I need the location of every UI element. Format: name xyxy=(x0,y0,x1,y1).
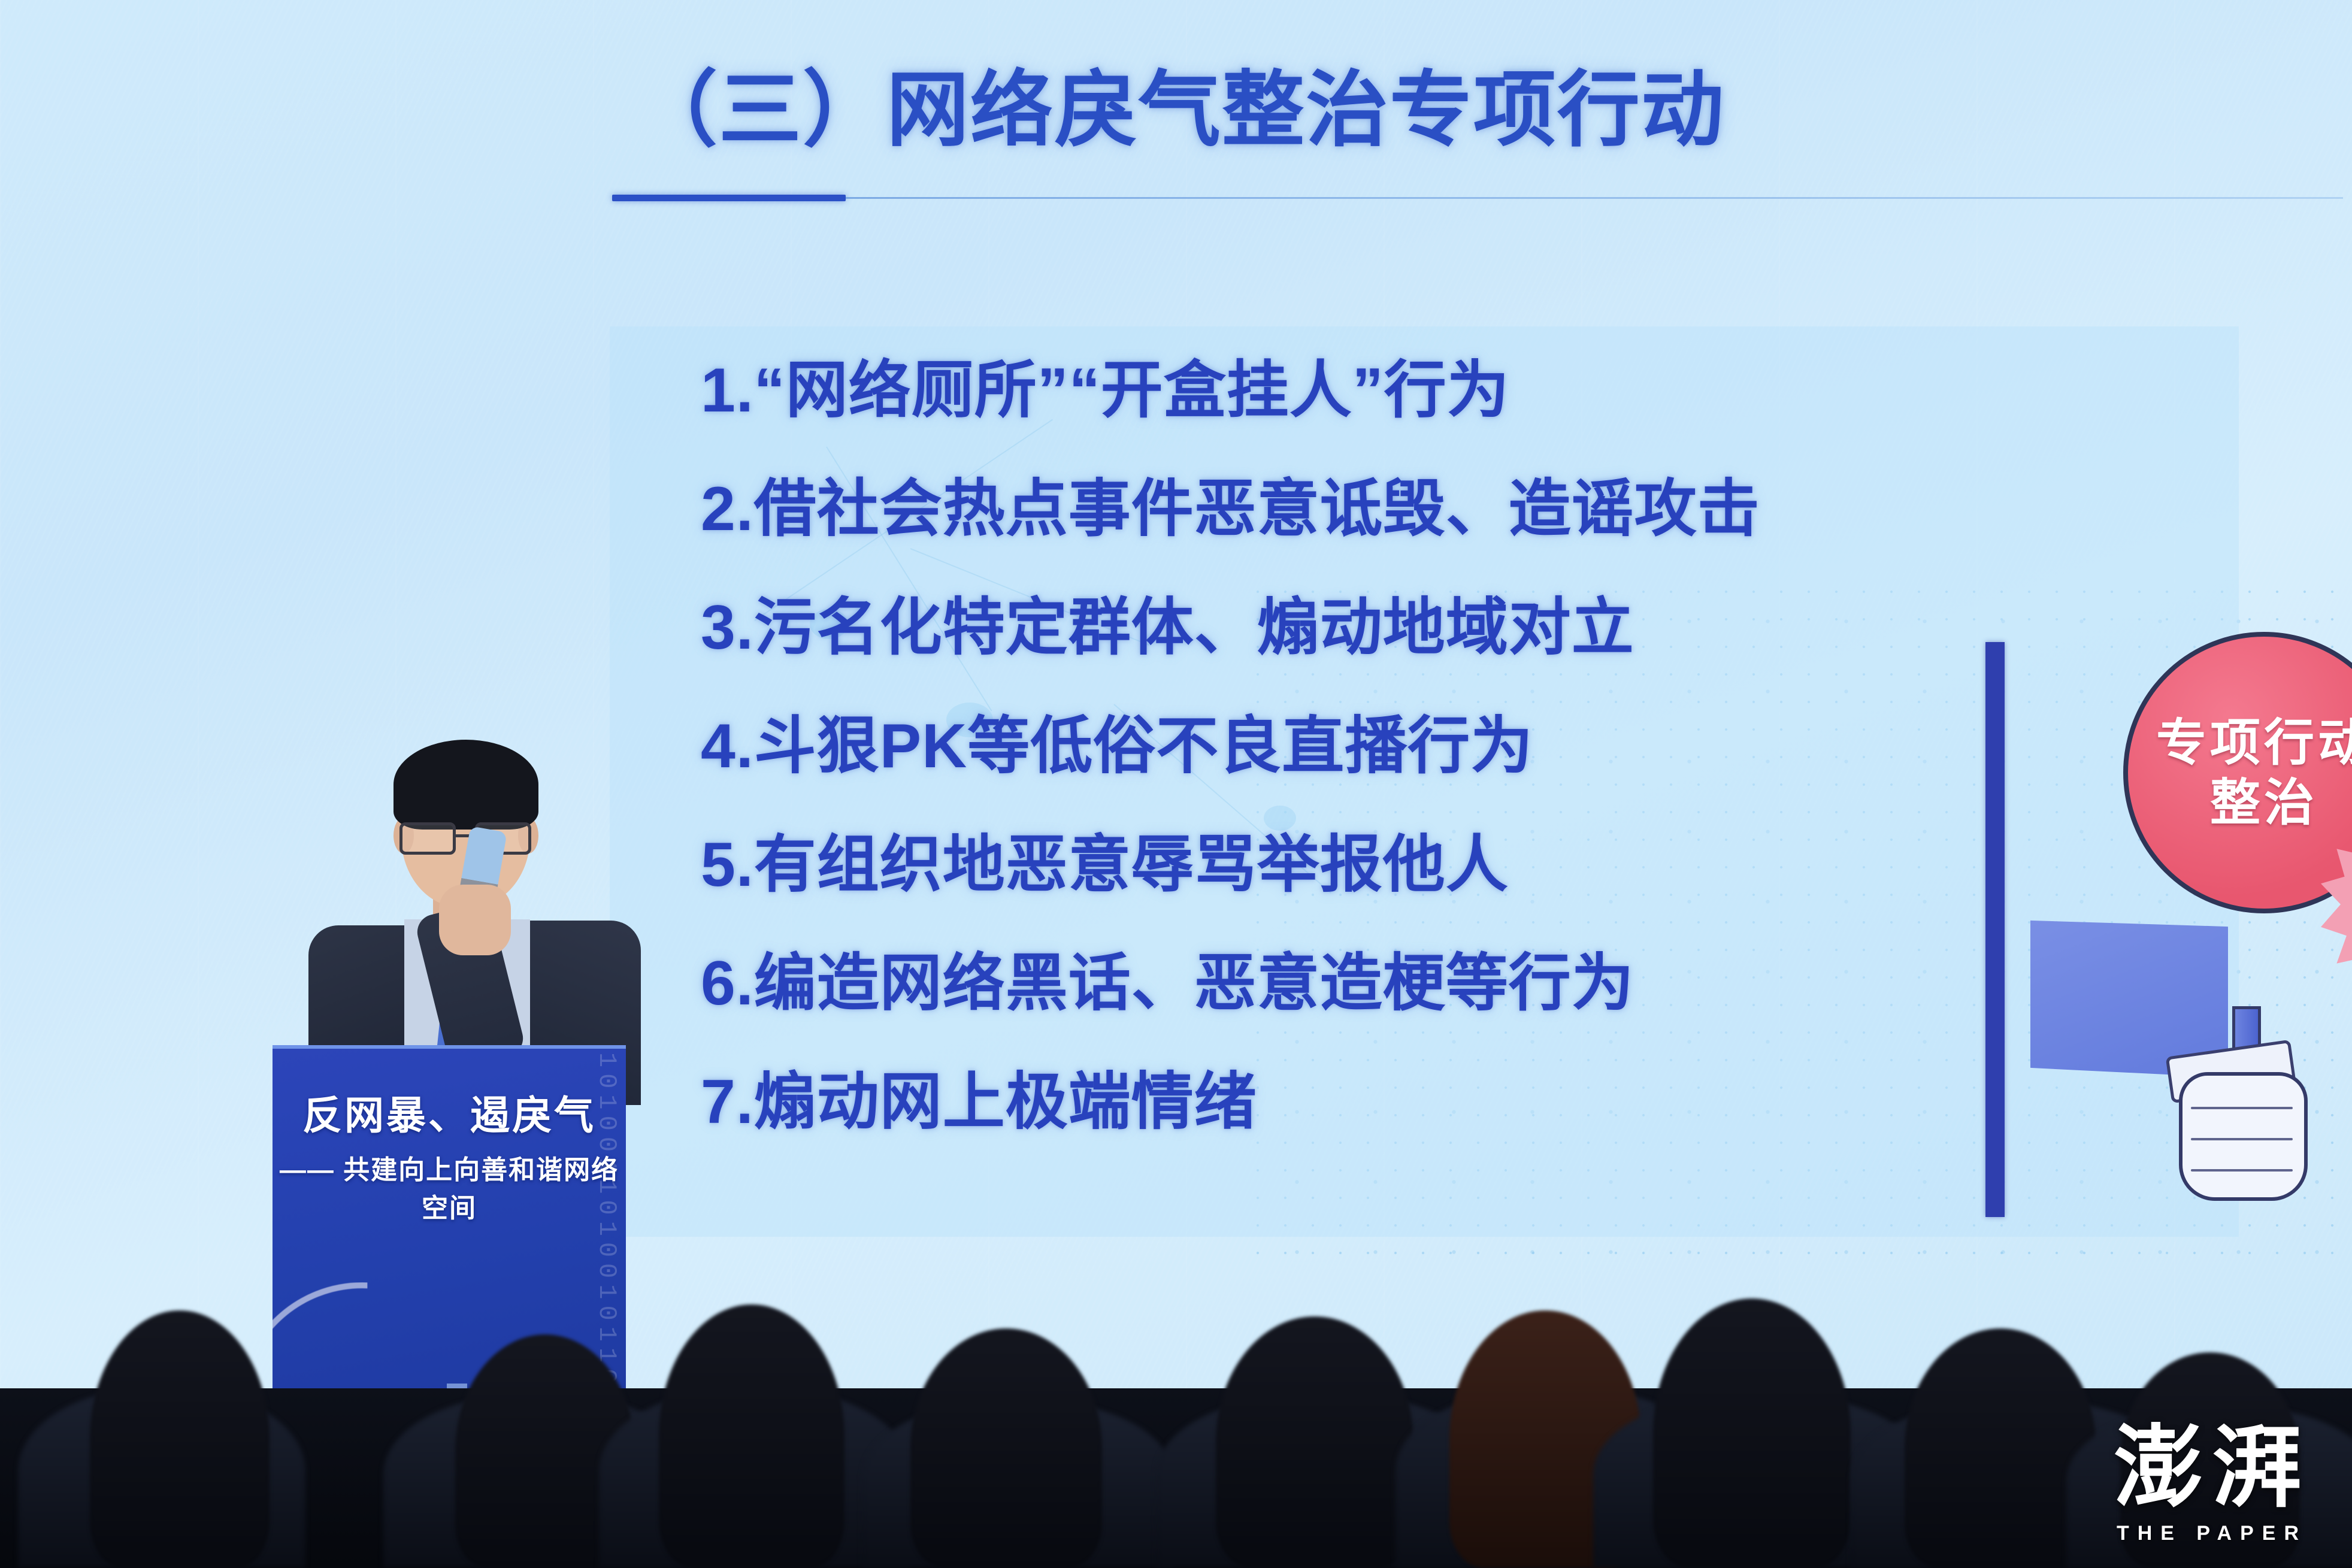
audience-shoulders xyxy=(862,1400,1174,1568)
slide-title-wrap: （三）网络戾气整治专项行动 xyxy=(635,66,2012,155)
list-item: 2.借社会热点事件恶意诋毁、造谣攻击 xyxy=(701,478,2198,540)
audience-shoulders xyxy=(599,1388,910,1568)
title-underline-thick xyxy=(612,195,846,201)
cartoon-fist-icon xyxy=(2179,1072,2308,1201)
lens-left xyxy=(399,822,456,855)
audience-shoulders xyxy=(1593,1394,1929,1568)
watermark-en: THE PAPER xyxy=(2114,1522,2310,1545)
podium-plinth xyxy=(356,1515,488,1521)
list-item: 1.“网络厕所”“开盒挂人”行为 xyxy=(701,359,2198,422)
sign-line-1: 专项行动 xyxy=(2156,718,2352,768)
lectern-headline: 反网暴、遏戾气 xyxy=(273,1083,626,1141)
lectern-subline: —— 共建向上向善和谐网络空间 xyxy=(273,1148,626,1225)
hair xyxy=(393,740,538,830)
sign-line-2: 整治 xyxy=(2210,777,2318,828)
audience-shoulders xyxy=(1396,1388,1719,1568)
title-underline-thin xyxy=(846,197,2343,199)
watermark: 澎湃 THE PAPER xyxy=(2114,1424,2310,1545)
photo-stage: （三）网络戾气整治专项行动 1.“网络厕所”“开盒挂人”行为 2.借社会热点事件… xyxy=(0,0,2352,1568)
vertical-divider-bar xyxy=(1985,642,2005,1217)
watermark-cn: 澎湃 xyxy=(2114,1424,2310,1513)
audience-shoulders xyxy=(18,1388,305,1568)
lectern-panel: 1010011010010110100101101001011010010110… xyxy=(273,1045,626,1568)
slide-title: （三）网络戾气整治专项行动 xyxy=(635,66,2012,155)
audience-shoulders xyxy=(1156,1394,1491,1568)
special-action-sign: 专项行动 整治 xyxy=(2123,632,2352,913)
slide-illustration: 专项行动 整治 戾 xyxy=(1970,635,2352,1240)
lectern-title: 反网暴、遏戾气 —— 共建向上向善和谐网络空间 xyxy=(273,1083,626,1225)
title-underline xyxy=(612,195,2343,201)
speaker-person xyxy=(296,728,656,1099)
digital-cityscape-icon xyxy=(371,1375,551,1501)
hand-holding-mic xyxy=(439,885,511,955)
